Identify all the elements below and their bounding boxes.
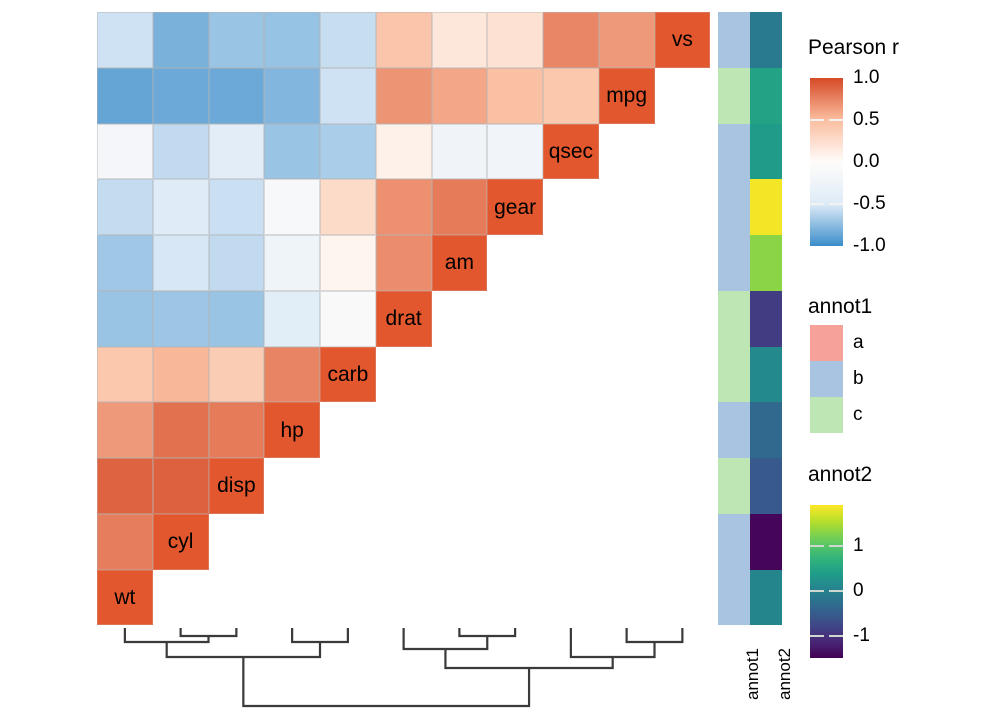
annot2-tickmark [829,635,843,637]
annot2-axis-label: annot2 [775,648,795,700]
annot2-tickmark [810,545,824,547]
annot1-cell[interactable] [718,68,750,124]
dendrogram-link [292,628,348,642]
annot2-tickmark [810,635,824,637]
annot1-legend-swatch[interactable] [810,361,843,397]
annot2-tick-label: 1 [853,535,864,557]
annot1-cell[interactable] [718,402,750,458]
pearson-legend-title: Pearson r [808,36,899,60]
annot2-tick-label: -1 [853,625,870,647]
pearson-colorbar [810,78,843,246]
pearson-tick-label: 1.0 [853,67,879,89]
dendrogram-link [445,649,612,668]
annot2-cell[interactable] [750,570,782,626]
annot2-tickmark [829,545,843,547]
annot1-cell[interactable] [718,458,750,514]
dendrogram-link [627,628,683,642]
dendrogram-link [459,628,515,636]
annot2-cell[interactable] [750,402,782,458]
annot2-cell[interactable] [750,68,782,124]
annot1-cell[interactable] [718,570,750,626]
pearson-tickmark [829,203,843,205]
row-dendrogram [0,0,1008,720]
annot2-tickmark [810,590,824,592]
pearson-tickmark [810,203,824,205]
annot2-cell[interactable] [750,124,782,180]
pearson-tick-label: 0.5 [853,109,879,131]
pearson-tickmark [810,119,824,121]
annot2-cell[interactable] [750,347,782,403]
annot1-cell[interactable] [718,291,750,347]
annot1-cell[interactable] [718,514,750,570]
annot2-cell[interactable] [750,179,782,235]
annot1-legend-title: annot1 [808,295,872,319]
annot1-legend-swatch[interactable] [810,325,843,361]
annot2-cell[interactable] [750,235,782,291]
annot1-legend-label: c [853,404,863,426]
annot1-cell[interactable] [718,179,750,235]
dendrogram-link [243,657,529,706]
annot2-tickmark [829,590,843,592]
annot1-legend-label: a [853,332,864,354]
pearson-tickmark [829,119,843,121]
annot1-legend-label: b [853,368,864,390]
annot2-tick-label: 0 [853,580,864,602]
annot2-legend-title: annot2 [808,463,872,487]
pearson-tick-label: -1.0 [853,235,886,257]
annot2-cell[interactable] [750,514,782,570]
annot1-axis-label: annot1 [743,648,763,700]
annot2-cell[interactable] [750,458,782,514]
annot1-cell[interactable] [718,124,750,180]
annot1-cell[interactable] [718,12,750,68]
annot2-cell[interactable] [750,12,782,68]
dendrogram-link [167,642,320,657]
annot1-legend-swatch[interactable] [810,397,843,433]
correlation-heatmap-figure: wtcyldisphpcarbdratamgearqsecmpgvs annot… [0,0,1008,720]
dendrogram-link [181,628,237,636]
annot1-cell[interactable] [718,235,750,291]
pearson-tick-label: -0.5 [853,193,886,215]
annot2-cell[interactable] [750,291,782,347]
annot1-cell[interactable] [718,347,750,403]
dendrogram-link [404,628,488,649]
pearson-tick-label: 0.0 [853,151,879,173]
